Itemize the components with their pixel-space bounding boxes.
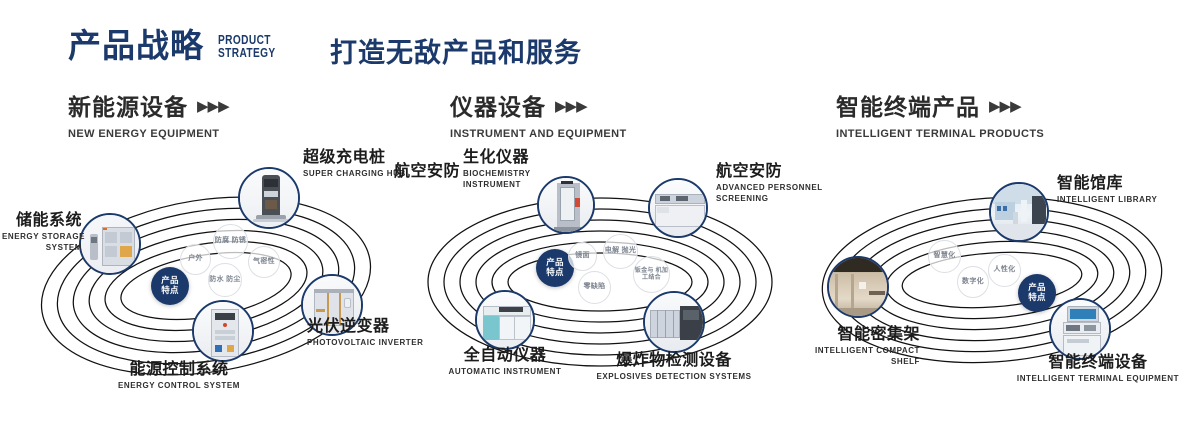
- product-photo-library: [991, 184, 1047, 240]
- product-photo-automatic-instrument: [477, 292, 533, 348]
- page-title-english: PRODUCT STRATEGY: [218, 33, 276, 59]
- section-heading-cn: 新能源设备▶▶▶: [68, 96, 229, 119]
- node-intelligent-terminal-equipment[interactable]: [1049, 298, 1111, 360]
- product-photo-energy-storage: [81, 215, 139, 273]
- label-cn: 智能馆库: [1057, 176, 1157, 193]
- label-cn: 爆炸物检测设备: [584, 353, 764, 370]
- feature-bubble-outdoor[interactable]: 户外: [180, 244, 211, 275]
- chevrons-right-icon: ▶▶▶: [555, 99, 587, 114]
- page-title-english-line2: STRATEGY: [218, 46, 276, 59]
- feature-bubble-label: 气密性: [253, 258, 275, 266]
- feature-bubble-zero-defect[interactable]: 零缺陷: [578, 271, 611, 304]
- feature-bubble-label: 户外: [188, 255, 203, 263]
- section-heading-cn-text: 新能源设备: [68, 94, 188, 120]
- feature-bubble-airtight[interactable]: 气密性: [248, 246, 280, 278]
- node-energy-control-system[interactable]: [192, 300, 254, 362]
- feature-bubble-label: 智慧化: [934, 252, 956, 260]
- label-cn: 全自动仪器: [425, 348, 585, 365]
- cluster-new-energy: 产品特点 户外 防腐 防锈 防水 防尘 气密性: [10, 150, 410, 400]
- label-intelligent-compact-shelf: 智能密集架 INTELLIGENT COMPACT SHELF: [775, 327, 920, 367]
- label-en-line: INTELLIGENT COMPACT: [775, 346, 920, 357]
- cluster-intelligent-terminal: 智慧化 数字化 人性化 产品特点: [800, 150, 1200, 400]
- product-photo-explosives-detection: [645, 293, 703, 351]
- section-heading-cn: 智能终端产品▶▶▶: [836, 96, 1044, 119]
- core-bubble-label: 产品特点: [1028, 283, 1046, 303]
- section-heading-cn-text: 智能终端产品: [836, 94, 980, 120]
- section-heading-cn-text: 仪器设备: [450, 94, 546, 120]
- page-subtitle: 打造无敌产品和服务: [330, 40, 582, 67]
- label-intelligent-terminal-equipment: 智能终端设备 INTELLIGENT TERMINAL EQUIPMENT: [998, 355, 1198, 385]
- label-en: AUTOMATIC INSTRUMENT: [425, 367, 585, 378]
- label-en: BIOCHEMISTRY INSTRUMENT: [463, 169, 531, 191]
- feature-bubble-digital[interactable]: 数字化: [957, 266, 989, 298]
- feature-bubble-label: 电解 抛光: [605, 247, 636, 255]
- feature-bubble-electropolishing[interactable]: 电解 抛光: [603, 234, 638, 269]
- label-cn: 智能密集架: [775, 327, 920, 344]
- feature-bubble-label: 防腐 防锈: [215, 237, 246, 245]
- feature-bubble-humanized[interactable]: 人性化: [988, 254, 1021, 287]
- label-aviation-security-left: 航空安防: [360, 164, 460, 181]
- label-automatic-instrument: 全自动仪器 AUTOMATIC INSTRUMENT: [425, 348, 585, 378]
- section-heading-new-energy: 新能源设备▶▶▶ NEW ENERGY EQUIPMENT: [68, 96, 229, 140]
- core-bubble-product-features[interactable]: 产品特点: [151, 267, 189, 305]
- label-biochemistry-instrument: 生化仪器 BIOCHEMISTRY INSTRUMENT: [463, 150, 531, 190]
- node-advanced-personnel-screening[interactable]: [648, 178, 708, 238]
- node-explosives-detection-systems[interactable]: [643, 291, 705, 353]
- feature-bubble-label: 数字化: [962, 278, 984, 286]
- label-en: INTELLIGENT LIBRARY: [1057, 195, 1157, 206]
- node-intelligent-compact-shelf[interactable]: [827, 256, 889, 318]
- label-cn: 航空安防: [360, 164, 460, 181]
- section-heading-intelligent-terminal: 智能终端产品▶▶▶ INTELLIGENT TERMINAL PRODUCTS: [836, 96, 1044, 140]
- label-en: ENERGY CONTROL SYSTEM: [79, 381, 279, 392]
- product-photo-screening: [650, 180, 706, 236]
- label-cn: 生化仪器: [463, 150, 531, 167]
- product-photo-biochemistry: [539, 178, 593, 232]
- label-en: INTELLIGENT COMPACT SHELF: [775, 346, 920, 368]
- label-explosives-detection-systems: 爆炸物检测设备 EXPLOSIVES DETECTION SYSTEMS: [584, 353, 764, 383]
- feature-bubble-label: 零缺陷: [584, 283, 606, 291]
- node-intelligent-library[interactable]: [989, 182, 1049, 242]
- cluster-instrument: 产品特点 镜面 电解 抛光 零缺陷 钣金与 机加工结合: [400, 150, 800, 400]
- feature-bubble-label: 人性化: [994, 266, 1016, 274]
- section-heading-cn: 仪器设备▶▶▶: [450, 96, 627, 119]
- section-heading-instrument: 仪器设备▶▶▶ INSTRUMENT AND EQUIPMENT: [450, 96, 627, 140]
- label-en-line: ENERGY STORAGE: [2, 232, 82, 243]
- feature-bubble-anticorrosion[interactable]: 防腐 防锈: [213, 224, 248, 259]
- label-en-line: SHELF: [775, 357, 920, 368]
- feature-bubble-sheetmetal-machining[interactable]: 钣金与 机加工结合: [633, 256, 670, 293]
- label-cn: 能源控制系统: [79, 362, 279, 379]
- section-heading-en: INTELLIGENT TERMINAL PRODUCTS: [836, 128, 1044, 140]
- label-intelligent-library: 智能馆库 INTELLIGENT LIBRARY: [1057, 176, 1157, 206]
- feature-bubble-mirror-finish[interactable]: 镜面: [568, 242, 597, 271]
- feature-bubble-waterproof[interactable]: 防水 防尘: [208, 263, 242, 297]
- section-heading-en: NEW ENERGY EQUIPMENT: [68, 128, 229, 140]
- section-heading-en: INSTRUMENT AND EQUIPMENT: [450, 128, 627, 140]
- node-super-charging-hub[interactable]: [238, 167, 300, 229]
- label-en-line: INSTRUMENT: [463, 180, 531, 191]
- chevrons-right-icon: ▶▶▶: [197, 99, 229, 114]
- node-energy-storage-system[interactable]: [79, 213, 141, 275]
- label-en-line: SYSTEM: [2, 243, 82, 254]
- label-energy-storage-system: 储能系统 ENERGY STORAGE SYSTEM: [2, 213, 82, 253]
- feature-bubble-label: 防水 防尘: [209, 276, 240, 284]
- label-cn: 储能系统: [2, 213, 82, 230]
- label-en: EXPLOSIVES DETECTION SYSTEMS: [584, 372, 764, 383]
- product-photo-compact-shelf: [829, 258, 887, 316]
- core-bubble-label: 产品特点: [161, 276, 179, 296]
- chevrons-right-icon: ▶▶▶: [989, 99, 1021, 114]
- product-photo-control-system: [194, 302, 252, 360]
- product-photo-terminal-equipment: [1051, 300, 1109, 358]
- product-photo-charging-hub: [240, 169, 298, 227]
- label-en: ENERGY STORAGE SYSTEM: [2, 232, 82, 254]
- feature-bubble-smart[interactable]: 智慧化: [928, 240, 961, 273]
- node-biochemistry-instrument[interactable]: [537, 176, 595, 234]
- slide-canvas: 产品战略 PRODUCT STRATEGY 打造无敌产品和服务 新能源设备▶▶▶…: [0, 0, 1200, 422]
- feature-bubble-label: 钣金与 机加工结合: [634, 268, 669, 282]
- feature-bubble-label: 镜面: [575, 252, 590, 260]
- node-automatic-instrument[interactable]: [475, 290, 535, 350]
- label-en-line: BIOCHEMISTRY: [463, 169, 531, 180]
- label-cn: 智能终端设备: [998, 355, 1198, 372]
- page-title: 产品战略: [68, 29, 204, 62]
- label-energy-control-system: 能源控制系统 ENERGY CONTROL SYSTEM: [79, 362, 279, 392]
- core-bubble-label: 产品特点: [546, 258, 564, 278]
- label-en: INTELLIGENT TERMINAL EQUIPMENT: [998, 374, 1198, 385]
